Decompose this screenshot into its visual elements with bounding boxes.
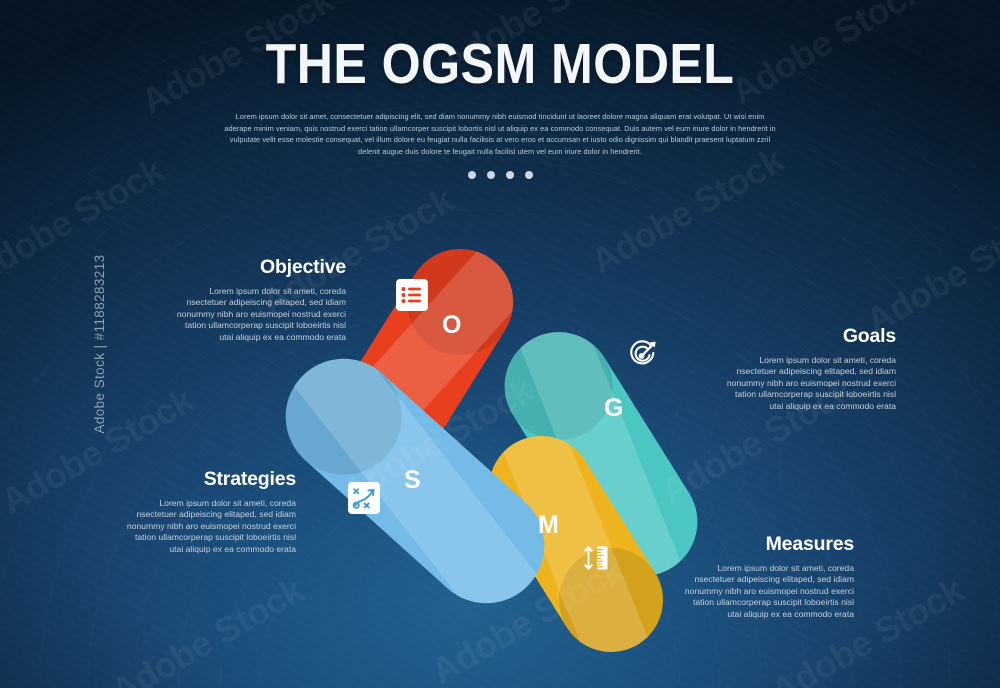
capsule-letter-objective: O xyxy=(442,313,461,338)
strategy-tactics-icon xyxy=(347,481,381,515)
capsule-letter-measures: M xyxy=(538,513,559,538)
poster-canvas: THE OGSM MODEL Lorem ipsum dolor sit ame… xyxy=(0,0,1000,688)
section-goals: Goals Lorem ipsum dolor sit ameti, cored… xyxy=(720,325,896,412)
capsule-letter-goals: G xyxy=(604,396,623,421)
section-objective: Objective Lorem ipsum dolor sit ameti, c… xyxy=(170,256,346,343)
section-measures: Measures Lorem ipsum dolor sit ameti, co… xyxy=(678,533,854,620)
section-measures-description: Lorem ipsum dolor sit ameti, coreda nsec… xyxy=(678,563,854,620)
section-objective-description: Lorem ipsum dolor sit ameti, coreda nsec… xyxy=(170,286,346,343)
capsule-letter-strategies: S xyxy=(404,468,421,493)
section-goals-description: Lorem ipsum dolor sit ameti, coreda nsec… xyxy=(720,355,896,412)
section-strategies-description: Lorem ipsum dolor sit ameti, coreda nsec… xyxy=(120,498,296,555)
section-strategies: Strategies Lorem ipsum dolor sit ameti, … xyxy=(120,468,296,555)
checklist-icon xyxy=(395,278,429,312)
stock-id-watermark: Adobe Stock | #1188283213 xyxy=(92,254,107,433)
section-goals-title: Goals xyxy=(720,325,896,348)
section-strategies-title: Strategies xyxy=(120,468,296,491)
ruler-measure-icon xyxy=(578,541,612,575)
section-measures-title: Measures xyxy=(678,533,854,556)
section-objective-title: Objective xyxy=(170,256,346,279)
target-arrow-icon xyxy=(625,337,659,371)
